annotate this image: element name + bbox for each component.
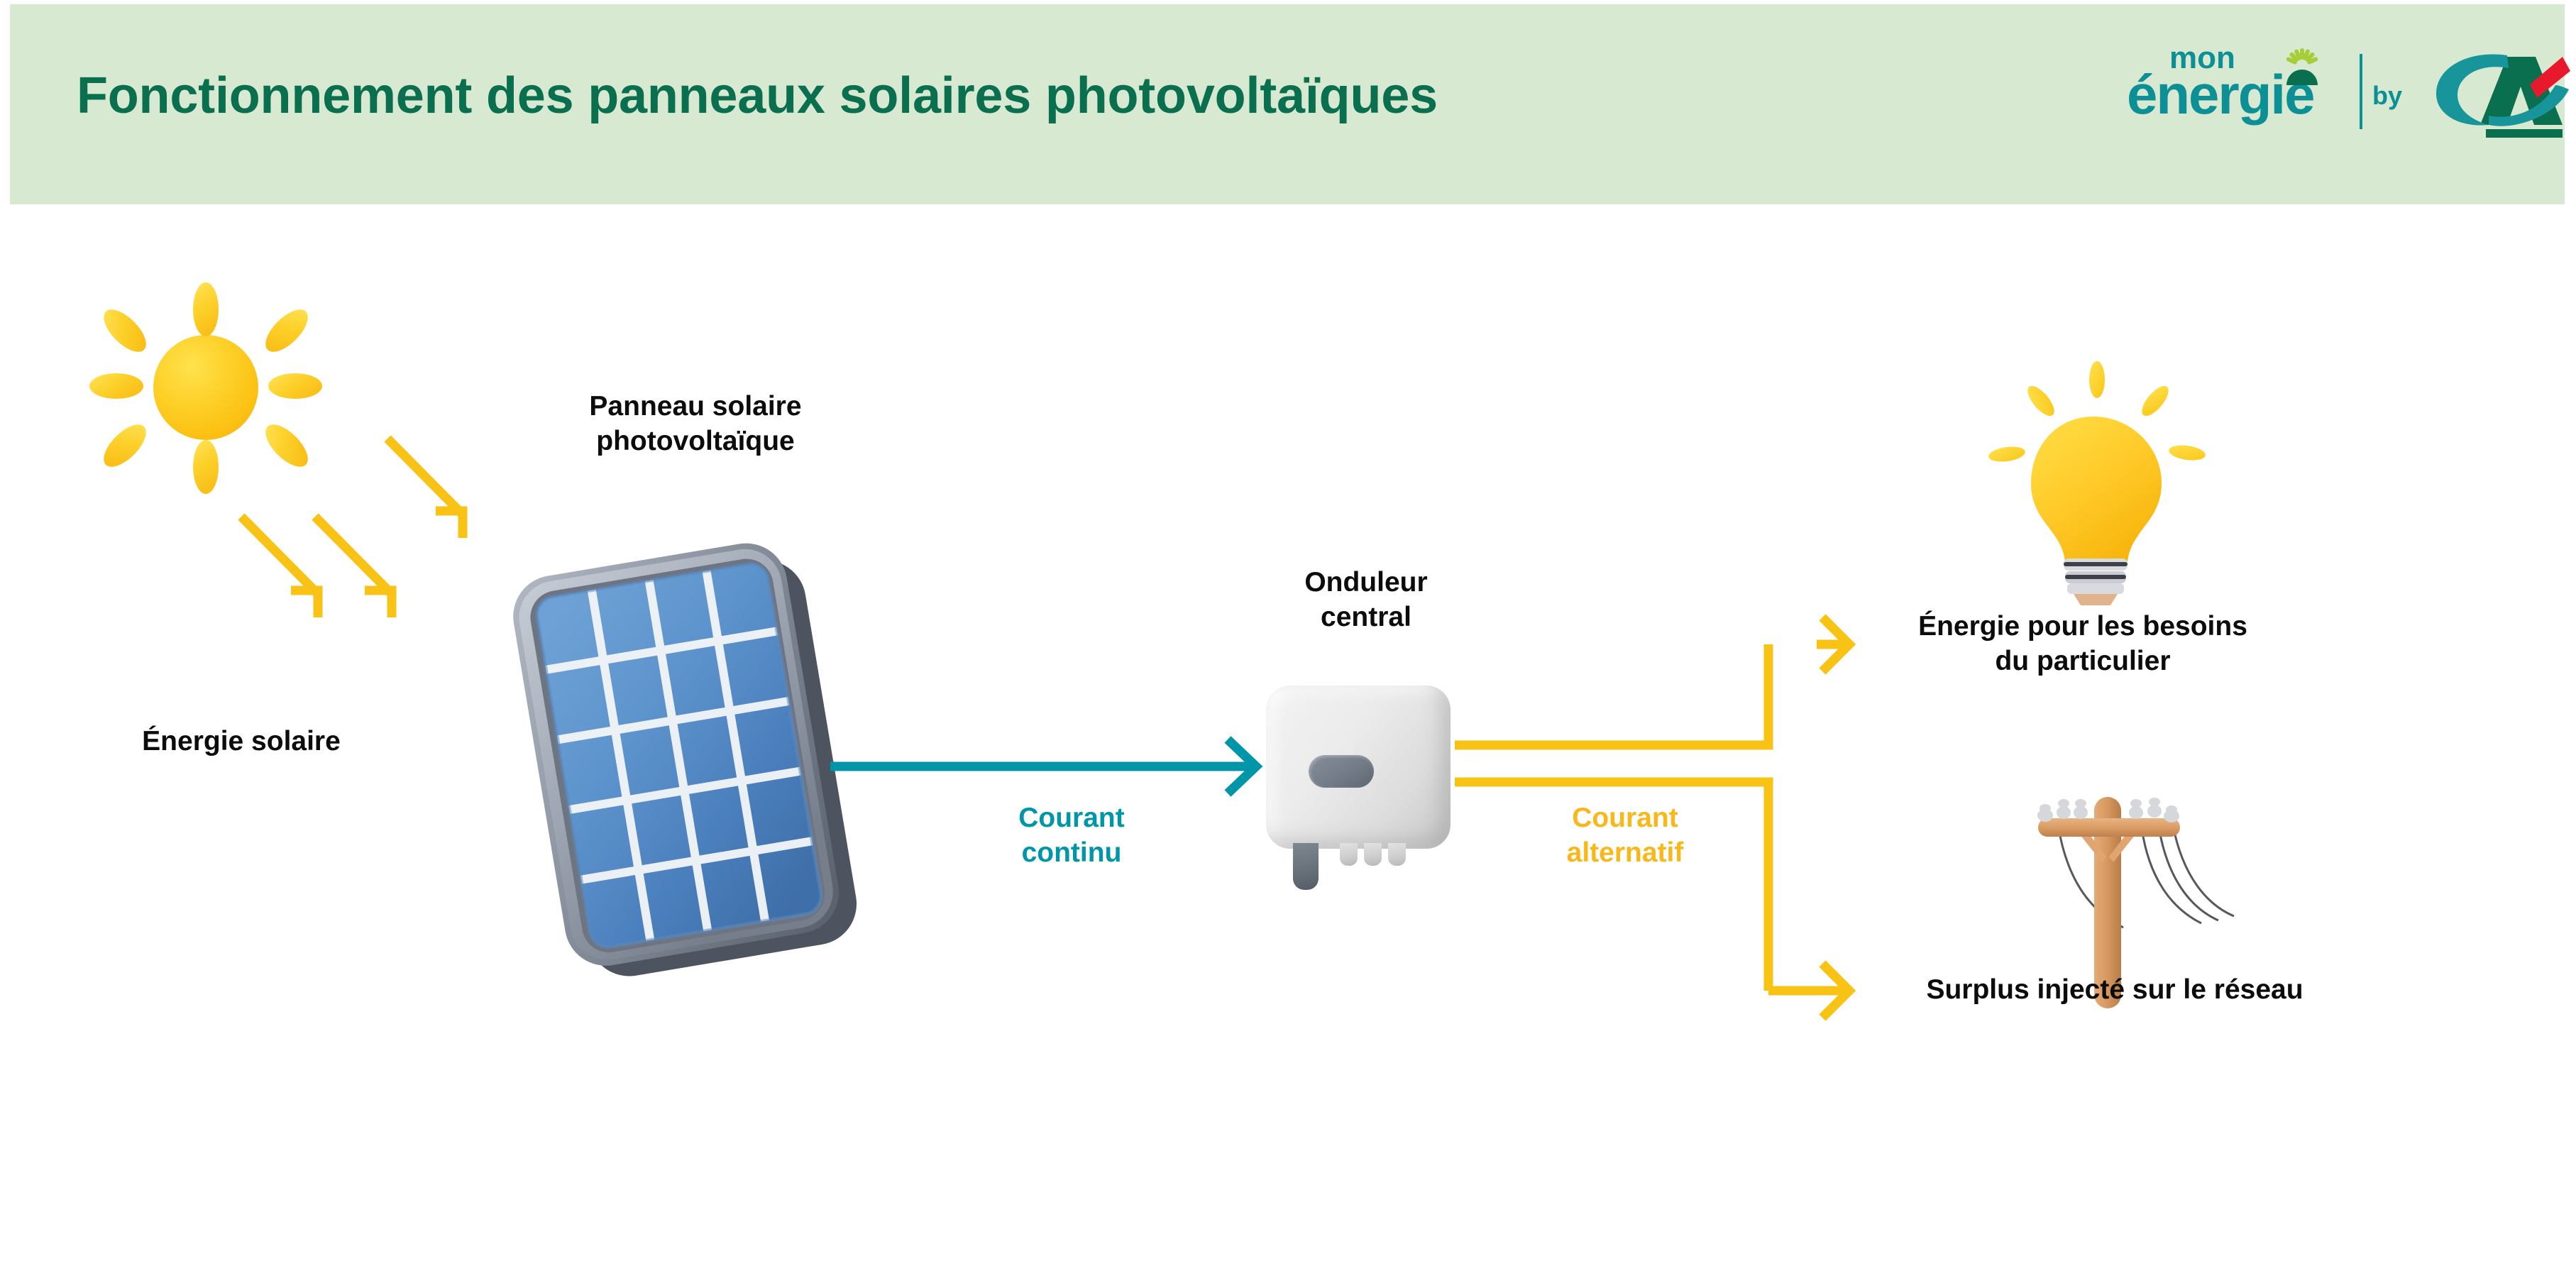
inverter-connector	[1340, 843, 1358, 866]
household-energy-label: Énergie pour les besoins du particulier	[1845, 609, 2321, 678]
sun-ray	[193, 282, 219, 336]
logo-by-text: by	[2372, 81, 2402, 111]
sun-ray	[89, 373, 143, 399]
sun-ray	[97, 302, 153, 358]
light-bulb-icon	[1952, 351, 2235, 614]
grid-surplus-label: Surplus injecté sur le réseau	[1838, 972, 2391, 1007]
panel-label: Panneau solaire photovoltaïque	[546, 389, 844, 458]
dc-label-line2: continu	[979, 835, 1164, 870]
panel-label-line1: Panneau solaire	[546, 389, 844, 424]
dc-current-arrow	[830, 724, 1313, 809]
ac-label-line1: Courant	[1519, 800, 1732, 835]
dc-current-label: Courant continu	[979, 800, 1164, 870]
inverter-label-line1: Onduleur	[1235, 565, 1497, 600]
logo-divider	[2360, 54, 2362, 129]
sun-ray	[268, 373, 322, 399]
sun-ray	[258, 302, 314, 358]
ac-label-line2: alternatif	[1519, 835, 1732, 870]
infographic-canvas: Fonctionnement des panneaux solaires pho…	[0, 0, 2576, 1288]
ac-current-label: Courant alternatif	[1519, 800, 1732, 870]
inverter-connector	[1364, 843, 1382, 866]
solar-energy-label: Énergie solaire	[131, 724, 351, 759]
dc-label-line1: Courant	[979, 800, 1164, 835]
credit-agricole-logo-icon	[2423, 45, 2572, 138]
brand-logo[interactable]: mon énergie by	[2125, 44, 2523, 158]
inverter-cable	[1293, 843, 1319, 890]
page-title: Fonctionnement des panneaux solaires pho…	[77, 67, 1438, 125]
household-label-line1: Énergie pour les besoins	[1845, 609, 2321, 644]
solar-ray-arrows	[142, 397, 525, 681]
inverter-connector	[1388, 843, 1406, 866]
inverter-indicator	[1309, 755, 1374, 788]
household-label-line2: du particulier	[1845, 644, 2321, 678]
sunrise-icon	[2271, 48, 2332, 85]
panel-label-line2: photovoltaïque	[546, 424, 844, 458]
